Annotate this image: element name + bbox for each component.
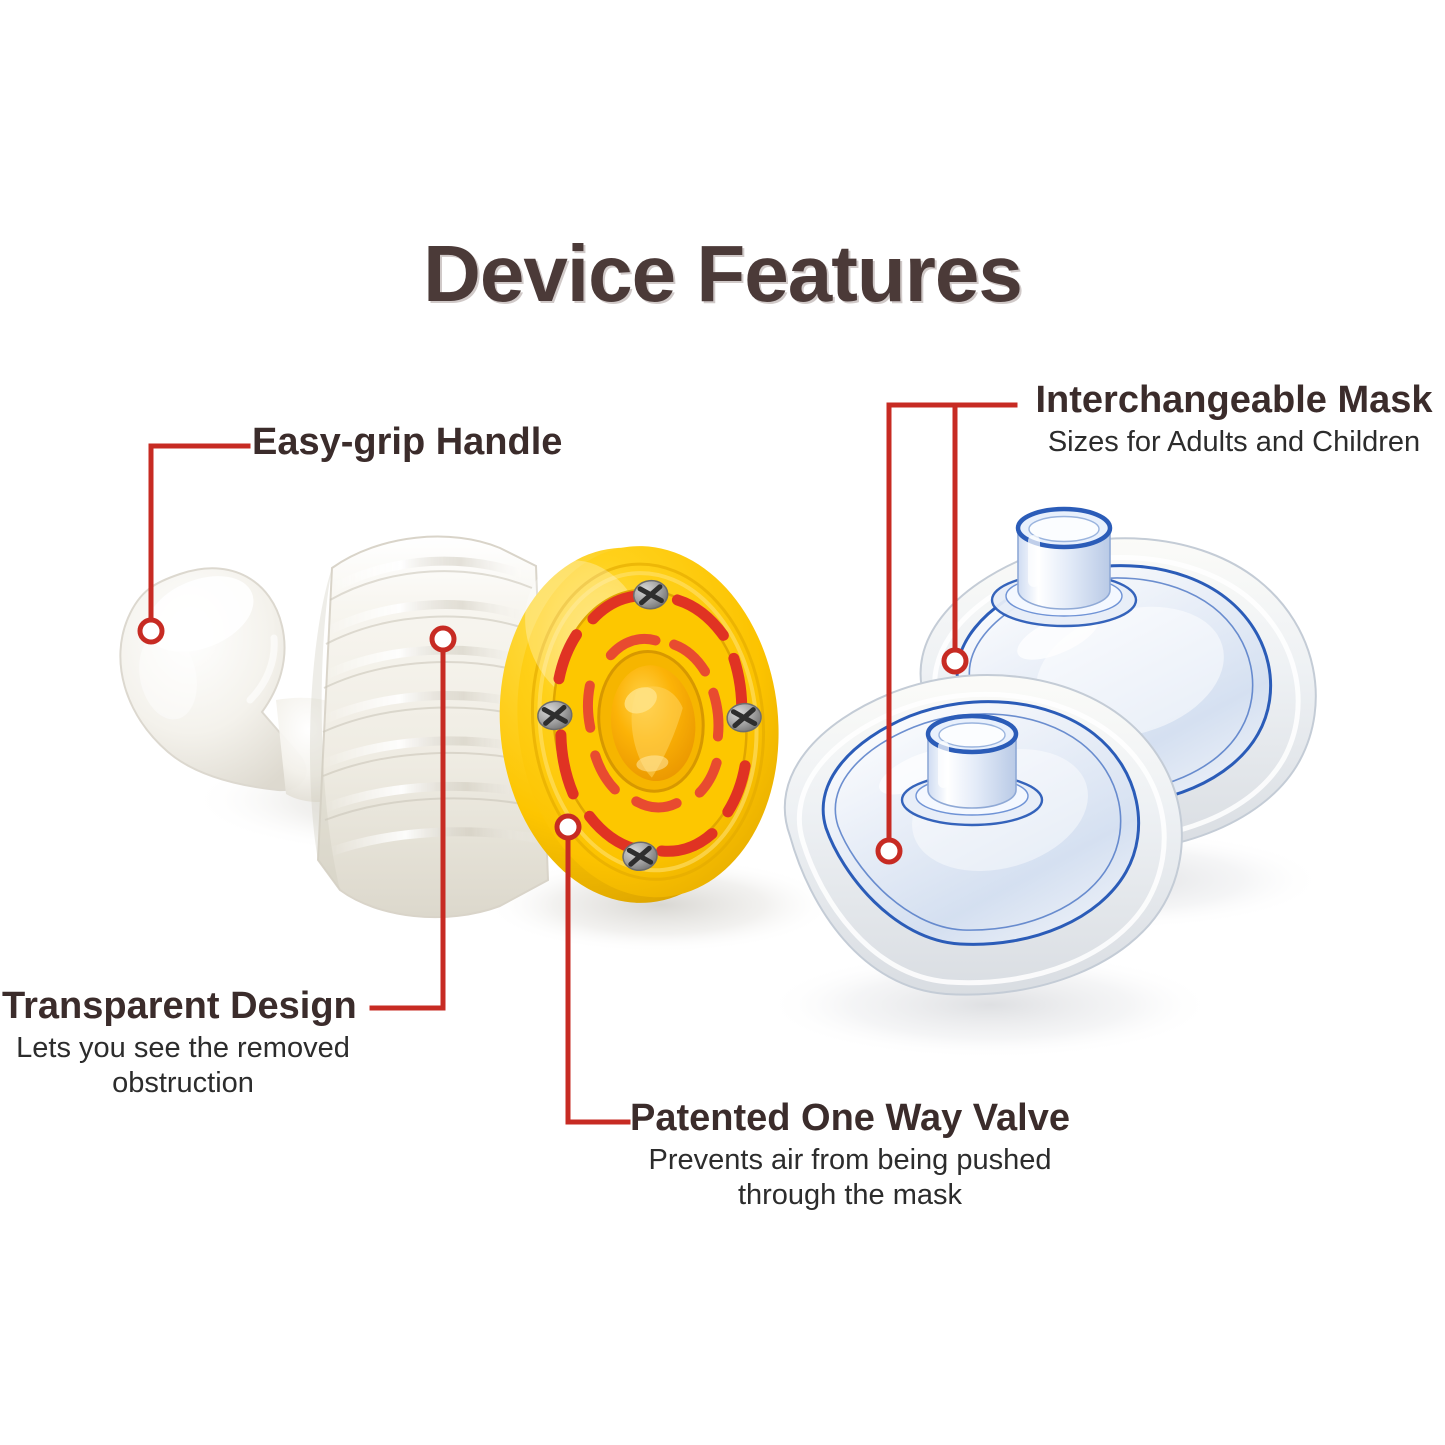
annotation-subtitle-one-way-valve-line2: through the mask	[600, 1178, 1100, 1213]
annotation-subtitle-transparent-design-line1: Lets you see the removed	[0, 1031, 366, 1066]
annotation-one-way-valve: Patented One Way Valve Prevents air from…	[600, 1098, 1100, 1214]
annotation-title-transparent-design: Transparent Design	[0, 986, 366, 1027]
suction-device	[120, 525, 796, 917]
annotation-subtitle-transparent-design-line2: obstruction	[0, 1066, 366, 1101]
product-illustration	[0, 0, 1445, 1445]
infographic-canvas: Device Features Easy-grip Handle Interch…	[0, 0, 1445, 1445]
annotation-easy-grip-handle: Easy-grip Handle	[252, 422, 612, 463]
annotation-title-one-way-valve: Patented One Way Valve	[600, 1098, 1100, 1139]
annotation-subtitle-interchangeable-mask: Sizes for Adults and Children	[1022, 425, 1445, 460]
annotation-title-interchangeable-mask: Interchangeable Mask	[1022, 380, 1445, 421]
page-title: Device Features	[0, 228, 1445, 320]
mask-child	[785, 675, 1182, 995]
annotation-subtitle-one-way-valve-line1: Prevents air from being pushed	[600, 1143, 1100, 1178]
annotation-title-easy-grip-handle: Easy-grip Handle	[252, 422, 612, 463]
annotation-interchangeable-mask: Interchangeable Mask Sizes for Adults an…	[1022, 380, 1445, 460]
annotation-transparent-design: Transparent Design Lets you see the remo…	[0, 986, 366, 1102]
